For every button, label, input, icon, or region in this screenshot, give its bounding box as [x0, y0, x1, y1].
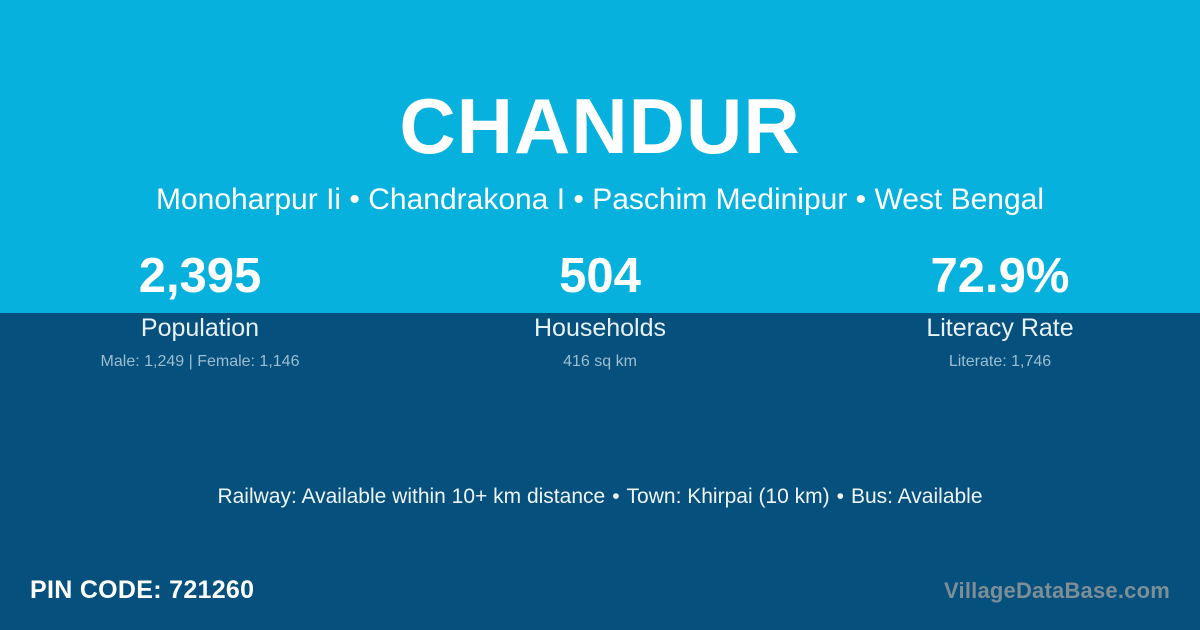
- village-info-card: CHANDUR Monoharpur Ii • Chandrakona I • …: [0, 0, 1200, 630]
- amenity-separator-2: •: [830, 483, 851, 511]
- page-title: CHANDUR: [0, 78, 1200, 174]
- stat-population: 2,395 Population Male: 1,249 | Female: 1…: [0, 246, 400, 371]
- footer: PIN CODE: 721260 VillageDataBase.com: [0, 566, 1200, 630]
- stat-population-value: 2,395: [0, 246, 400, 306]
- amenity-bus: Bus: Available: [851, 485, 983, 508]
- amenities-line: Railway: Available within 10+ km distanc…: [0, 483, 1200, 511]
- pin-code: PIN CODE: 721260: [30, 575, 254, 605]
- stat-households-label: Households: [400, 314, 800, 343]
- stat-literacy-rate-detail: Literate: 1,746: [800, 352, 1200, 371]
- breadcrumb: Monoharpur Ii • Chandrakona I • Paschim …: [0, 181, 1200, 219]
- stat-households: 504 Households 416 sq km: [400, 246, 800, 371]
- stat-households-value: 504: [400, 246, 800, 306]
- stat-literacy-rate-label: Literacy Rate: [800, 314, 1200, 343]
- stat-population-label: Population: [0, 314, 400, 343]
- stats-row: 2,395 Population Male: 1,249 | Female: 1…: [0, 246, 1200, 371]
- stat-literacy-rate: 72.9% Literacy Rate Literate: 1,746: [800, 246, 1200, 371]
- stat-literacy-rate-value: 72.9%: [800, 246, 1200, 306]
- amenity-railway: Railway: Available within 10+ km distanc…: [217, 485, 605, 508]
- stat-population-detail: Male: 1,249 | Female: 1,146: [0, 352, 400, 371]
- stat-households-detail: 416 sq km: [400, 352, 800, 371]
- site-watermark: VillageDataBase.com: [944, 577, 1170, 605]
- amenity-town: Town: Khirpai (10 km): [627, 485, 830, 508]
- amenity-separator-1: •: [605, 483, 626, 511]
